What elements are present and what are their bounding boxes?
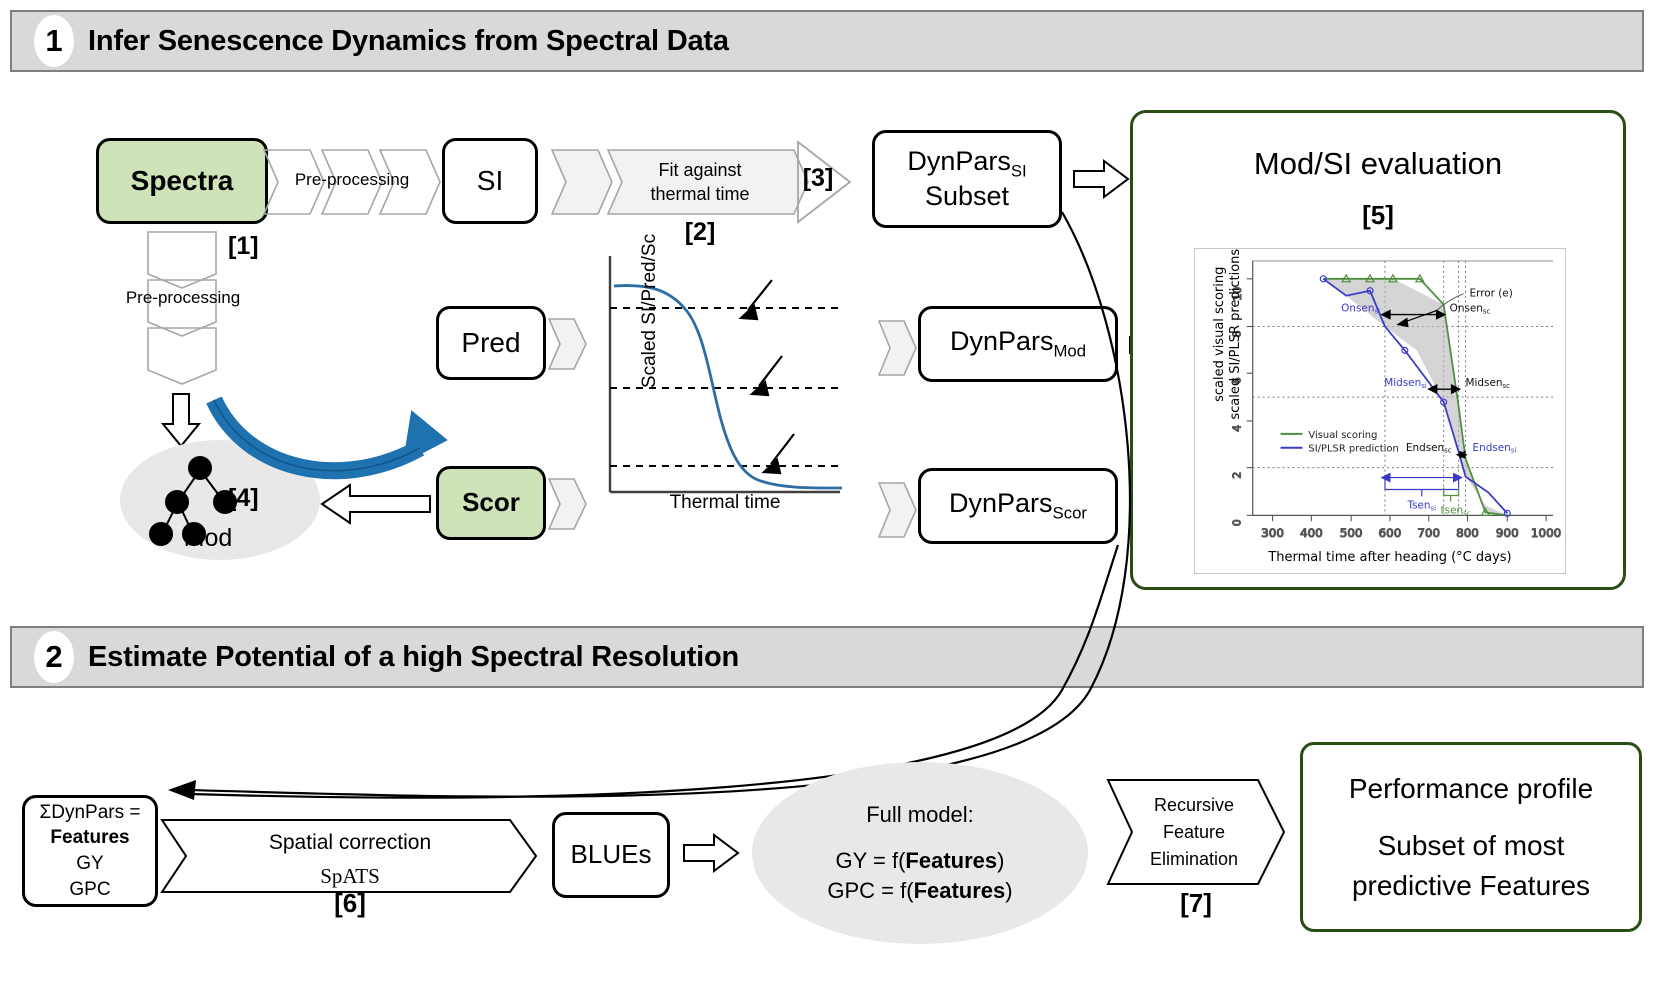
full-model-eq2-suffix: ) <box>1005 878 1012 903</box>
spectra-label: Spectra <box>131 165 234 196</box>
dynpars-si-line1: DynParsSI <box>907 146 1026 181</box>
chevron-small-icon <box>548 318 588 370</box>
svg-text:1000: 1000 <box>1531 526 1561 540</box>
svg-text:500: 500 <box>1340 526 1363 540</box>
pred-to-plot-chevron <box>548 318 588 370</box>
svg-text:Onsensi: Onsensi <box>1341 303 1380 316</box>
eval-panel-title: Mod/SI evaluation <box>1140 146 1616 182</box>
features-line3: GY <box>76 851 103 877</box>
features-line1: ΣDynPars = <box>40 800 141 826</box>
chevron-small-icon <box>878 482 918 538</box>
preprocessing-left-label: Pre-processing <box>88 288 278 308</box>
chart-ylabel-line2: scaled SI/PLSR predictions <box>1228 224 1244 444</box>
dynpars-mod-sub: Mod <box>1053 342 1086 361</box>
dynpars-mod-text: DynParsMod <box>950 326 1086 361</box>
section-2-title: Estimate Potential of a high Spectral Re… <box>88 641 739 674</box>
full-model-eq1-suffix: ) <box>997 848 1004 873</box>
scor-box[interactable]: Scor <box>436 466 546 540</box>
section-1-number: 1 <box>34 15 74 67</box>
features-box[interactable]: ΣDynPars = Features GY GPC <box>22 795 158 907</box>
svg-text:Error (e): Error (e) <box>1470 288 1513 300</box>
dynpars-mod-main: DynPars <box>950 326 1054 356</box>
fit-thermal-label: Fit against thermal time <box>600 158 800 207</box>
rfe-line1: Recursive <box>1116 792 1272 819</box>
mod-label: Mod <box>148 524 268 553</box>
blues-box[interactable]: BLUEs <box>552 812 670 898</box>
svg-text:Tsensi: Tsensi <box>1406 499 1436 512</box>
chart-xlabel: Thermal time after heading (°C days) <box>1240 550 1540 565</box>
performance-line2: Subset of most <box>1378 826 1565 865</box>
svg-text:2: 2 <box>1231 472 1244 479</box>
pred-label: Pred <box>461 327 520 358</box>
performance-line1: Performance profile <box>1349 769 1593 808</box>
performance-profile-box[interactable]: Performance profile Subset of most predi… <box>1300 742 1642 932</box>
sigmoid-ylabel: Scaled SI/Pred/Sc <box>639 181 661 441</box>
svg-text:Onsensc: Onsensc <box>1450 303 1491 316</box>
spatial-correction-line1: Spatial correction <box>180 827 520 860</box>
pred-box[interactable]: Pred <box>436 306 546 380</box>
full-model-eq1-bold: Features <box>905 848 997 873</box>
svg-text:300: 300 <box>1261 526 1284 540</box>
block-arrow-right-icon <box>1072 158 1130 200</box>
step-4-label: [4] <box>228 484 298 513</box>
preprocessing-left-chevrons <box>146 230 218 416</box>
step-1-label: [1] <box>228 232 288 261</box>
svg-text:Endsensi: Endsensi <box>1473 442 1517 455</box>
svg-text:600: 600 <box>1379 526 1402 540</box>
section-1-title: Infer Senescence Dynamics from Spectral … <box>88 25 729 58</box>
features-line4: GPC <box>69 877 110 903</box>
full-model-eq2: GPC = f(Features) <box>827 876 1012 906</box>
svg-text:Visual scoring: Visual scoring <box>1308 430 1377 441</box>
si-box[interactable]: SI <box>442 138 538 224</box>
block-arrow-right-icon <box>682 832 740 874</box>
senescence-evaluation-chart: 0 2 4 6 8 10 300 400 500 600 700 800 900… <box>1194 248 1566 574</box>
preprocessing-top-label: Pre-processing <box>262 170 442 190</box>
fit-thermal-line1: Fit against <box>600 158 800 182</box>
step-2-label: [2] <box>660 218 740 247</box>
dynpars-scor-box[interactable]: DynParsScor <box>918 468 1118 544</box>
chevron-small-icon <box>548 478 588 530</box>
svg-text:800: 800 <box>1456 526 1479 540</box>
spectra-box[interactable]: Spectra <box>96 138 268 224</box>
si-label: SI <box>477 165 503 196</box>
svg-text:Endsensc: Endsensc <box>1406 442 1452 455</box>
spatial-correction-label: Spatial correction SpATS <box>180 827 520 892</box>
dynpars-scor-sub: Scor <box>1053 504 1087 523</box>
step-7-label: [7] <box>1146 888 1246 919</box>
rfe-line3: Elimination <box>1116 846 1272 873</box>
dynpars-si-line2: Subset <box>925 181 1009 211</box>
fit-thermal-line2: thermal time <box>600 182 800 206</box>
section-2-number: 2 <box>34 631 74 683</box>
rfe-label: Recursive Feature Elimination <box>1116 792 1272 873</box>
block-arrow-down-icon <box>160 392 202 448</box>
dynpars-mod-chevron <box>878 320 918 376</box>
arrow-blues-to-model <box>682 832 740 874</box>
dynpars-scor-main: DynPars <box>949 488 1053 518</box>
section-1-header: 1 Infer Senescence Dynamics from Spectra… <box>10 10 1644 72</box>
svg-text:700: 700 <box>1417 526 1440 540</box>
dynpars-si-sub: SI <box>1011 162 1027 181</box>
step-3-label: [3] <box>796 164 840 193</box>
arrow-down-to-mod <box>160 392 202 448</box>
evaluation-chart-svg: 0 2 4 6 8 10 300 400 500 600 700 800 900… <box>1195 249 1565 573</box>
arrow-dynpars-si-to-eval <box>1072 158 1130 200</box>
scor-label: Scor <box>462 488 520 517</box>
blues-label: BLUEs <box>571 840 652 869</box>
dynpars-si-main: DynPars <box>907 146 1011 176</box>
svg-text:0: 0 <box>1231 519 1244 526</box>
chart-ylabel-line1: scaled visual scoring <box>1212 224 1228 444</box>
arrow-scor-to-mod <box>320 482 432 526</box>
svg-text:Midsensi: Midsensi <box>1384 377 1427 390</box>
full-model-eq2-prefix: GPC = f( <box>827 878 913 903</box>
scor-to-plot-chevron <box>548 478 588 530</box>
chevron-small-icon <box>878 320 918 376</box>
svg-text:Midsensc: Midsensc <box>1466 377 1511 390</box>
dynpars-mod-box[interactable]: DynParsMod <box>918 306 1118 382</box>
performance-line3: predictive Features <box>1352 866 1590 905</box>
full-model-eq1-prefix: GY = f( <box>836 848 906 873</box>
rfe-line2: Feature <box>1116 819 1272 846</box>
features-line2: Features <box>50 825 129 851</box>
full-model-title: Full model: <box>866 800 974 830</box>
full-model-eq2-bold: Features <box>914 878 1006 903</box>
full-model-eq1: GY = f(Features) <box>836 846 1005 876</box>
svg-text:SI/PLSR prediction: SI/PLSR prediction <box>1308 444 1398 455</box>
full-model-ellipse: Full model: GY = f(Features) GPC = f(Fea… <box>752 762 1088 944</box>
dynpars-scor-chevron <box>878 482 918 538</box>
dynpars-si-subset-box[interactable]: DynParsSI Subset <box>872 130 1062 228</box>
block-arrow-left-icon <box>320 482 432 526</box>
section-2-header: 2 Estimate Potential of a high Spectral … <box>10 626 1644 688</box>
dynpars-scor-text: DynParsScor <box>949 488 1087 523</box>
svg-text:400: 400 <box>1300 526 1323 540</box>
step-6-label: [6] <box>300 888 400 919</box>
svg-text:tsensc: tsensc <box>1441 504 1471 517</box>
svg-text:900: 900 <box>1496 526 1519 540</box>
chevron-down-outline-icon <box>146 230 218 416</box>
chart-ylabel: scaled visual scoring scaled SI/PLSR pre… <box>1212 224 1245 444</box>
sigmoid-xlabel: Thermal time <box>610 492 840 514</box>
